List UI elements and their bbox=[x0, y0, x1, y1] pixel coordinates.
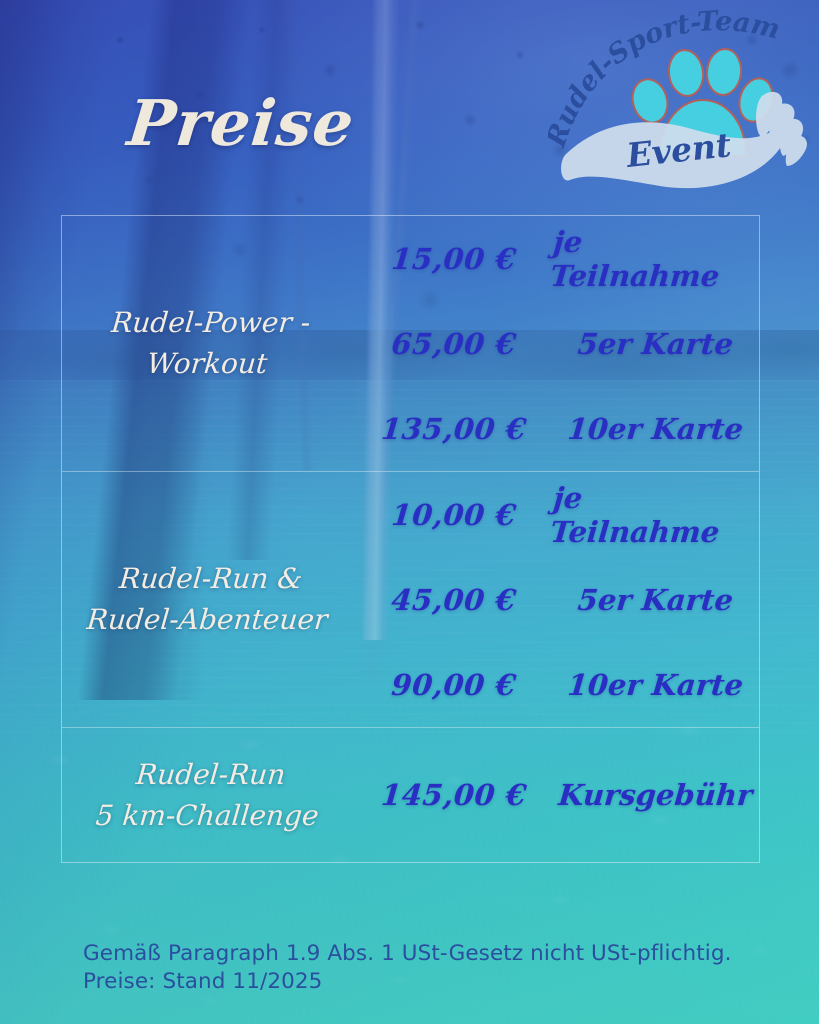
table-row: Rudel-Run & Rudel-Abenteuer 10,00 € 45,0… bbox=[62, 472, 759, 728]
service-name-line: Rudel-Abenteuer bbox=[66, 600, 348, 641]
service-name-line: Rudel-Power - bbox=[70, 302, 352, 343]
row-price-column: 145,00 € bbox=[356, 778, 552, 812]
row-service-name: Rudel-Power - Workout bbox=[58, 302, 359, 385]
row-label-column: je Teilnahme 5er Karte 10er Karte bbox=[552, 472, 759, 727]
service-name-line: Rudel-Run & bbox=[70, 558, 352, 599]
price-value: 15,00 € bbox=[352, 216, 555, 301]
table-row: Rudel-Power - Workout 15,00 € 65,00 € 13… bbox=[62, 216, 759, 472]
footer-line-date: Preise: Stand 11/2025 bbox=[83, 968, 783, 996]
price-label: 5er Karte bbox=[548, 557, 762, 642]
price-label: Kursgebühr bbox=[551, 778, 761, 812]
price-value: 90,00 € bbox=[352, 642, 555, 727]
service-name-line: 5 km-Challenge bbox=[66, 795, 348, 836]
price-table: Rudel-Power - Workout 15,00 € 65,00 € 13… bbox=[61, 215, 760, 863]
row-service-name: Rudel-Run 5 km-Challenge bbox=[58, 754, 359, 837]
page-title: Preise bbox=[124, 86, 358, 160]
price-value: 135,00 € bbox=[352, 386, 555, 471]
price-value: 45,00 € bbox=[352, 557, 555, 642]
price-label: 10er Karte bbox=[548, 386, 762, 471]
price-label: je Teilnahme bbox=[548, 216, 762, 301]
row-price-column: 10,00 € 45,00 € 90,00 € bbox=[356, 472, 552, 727]
logo: Rudel-Sport-Team Event bbox=[548, 4, 816, 204]
row-label-column: Kursgebühr bbox=[552, 778, 759, 812]
price-value: 10,00 € bbox=[352, 472, 555, 557]
footer-note: Gemäß Paragraph 1.9 Abs. 1 USt-Gesetz ni… bbox=[83, 940, 783, 995]
price-label: 10er Karte bbox=[548, 642, 762, 727]
footer-line-tax: Gemäß Paragraph 1.9 Abs. 1 USt-Gesetz ni… bbox=[83, 940, 783, 968]
row-label-column: je Teilnahme 5er Karte 10er Karte bbox=[552, 216, 759, 471]
service-name-line: Workout bbox=[66, 344, 348, 385]
price-label: 5er Karte bbox=[548, 301, 762, 386]
row-price-column: 15,00 € 65,00 € 135,00 € bbox=[356, 216, 552, 471]
price-label: je Teilnahme bbox=[548, 472, 762, 557]
table-row: Rudel-Run 5 km-Challenge 145,00 € Kursge… bbox=[62, 728, 759, 862]
price-value: 65,00 € bbox=[352, 301, 555, 386]
row-service-name: Rudel-Run & Rudel-Abenteuer bbox=[58, 558, 359, 641]
service-name-line: Rudel-Run bbox=[70, 754, 352, 795]
pricing-poster: Preise R bbox=[0, 0, 819, 1024]
price-value: 145,00 € bbox=[355, 778, 554, 812]
